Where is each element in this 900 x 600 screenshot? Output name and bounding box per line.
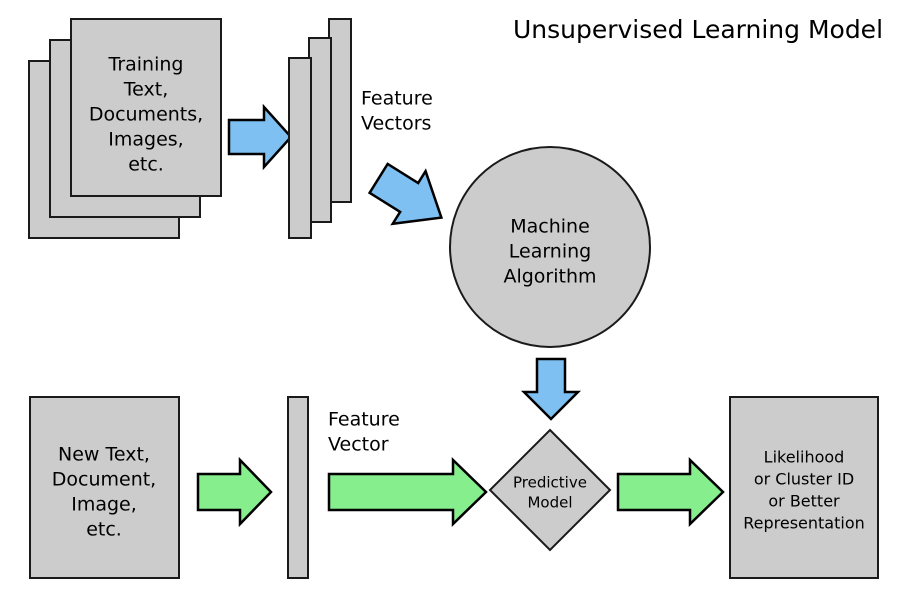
- ml-algorithm-line-2: Learning: [509, 241, 592, 263]
- output-node: Likelihood or Cluster ID or Better Repre…: [730, 397, 878, 578]
- new-data-node: New Text, Document, Image, etc.: [30, 397, 179, 578]
- feature-vectors-label-line-1: Feature: [361, 88, 433, 110]
- training-data-line-5: etc.: [128, 154, 164, 176]
- new-data-line-2: Document,: [52, 469, 156, 491]
- feature-vectors-label: Feature Vectors: [361, 88, 433, 135]
- feature-vector-label: Feature Vector: [328, 409, 400, 456]
- arrow-algorithm-to-model-icon: [524, 359, 578, 419]
- new-data-line-1: New Text,: [58, 444, 150, 466]
- new-data-line-3: Image,: [71, 494, 137, 516]
- arrow-newdata-to-featurevector-icon: [198, 460, 271, 524]
- arrow-features-to-algorithm-group: [362, 152, 458, 244]
- page-title: Unsupervised Learning Model: [513, 15, 883, 44]
- output-line-4: Representation: [743, 514, 865, 533]
- output-line-3: or Better: [768, 492, 840, 511]
- feature-vector-bar-middle: [309, 38, 331, 222]
- feature-vector-bar: [288, 397, 308, 578]
- ml-algorithm-node: Machine Learning Algorithm: [450, 147, 650, 347]
- training-data-line-1: Training: [108, 54, 184, 76]
- arrow-model-to-output-icon: [618, 460, 723, 524]
- feature-vector-label-line-2: Vector: [328, 434, 389, 456]
- arrow-features-to-algorithm-icon: [362, 152, 458, 244]
- predictive-model-node: Predictive Model: [490, 430, 610, 550]
- feature-vector-bar-back: [329, 19, 351, 202]
- ml-algorithm-line-1: Machine: [510, 216, 590, 238]
- output-line-1: Likelihood: [764, 448, 845, 467]
- feature-vector-bar-front: [289, 58, 311, 238]
- new-data-line-4: etc.: [86, 519, 122, 541]
- training-data-line-3: Documents,: [89, 104, 203, 126]
- arrow-training-to-features-icon: [229, 107, 291, 167]
- training-data-stack: Training Text, Documents, Images, etc.: [29, 19, 221, 238]
- output-line-2: or Cluster ID: [754, 470, 854, 489]
- predictive-model-line-1: Predictive: [513, 474, 587, 492]
- arrow-featurevector-to-model-icon: [329, 460, 486, 524]
- training-data-line-2: Text,: [123, 79, 168, 101]
- predictive-model-line-2: Model: [527, 494, 572, 512]
- feature-vectors-label-line-2: Vectors: [361, 113, 431, 135]
- training-data-line-4: Images,: [108, 129, 183, 151]
- ml-algorithm-line-3: Algorithm: [503, 266, 596, 288]
- diagram-canvas: Unsupervised Learning Model Training Tex…: [0, 0, 900, 600]
- feature-vector-label-line-1: Feature: [328, 409, 400, 431]
- feature-vectors-stack: [289, 19, 351, 238]
